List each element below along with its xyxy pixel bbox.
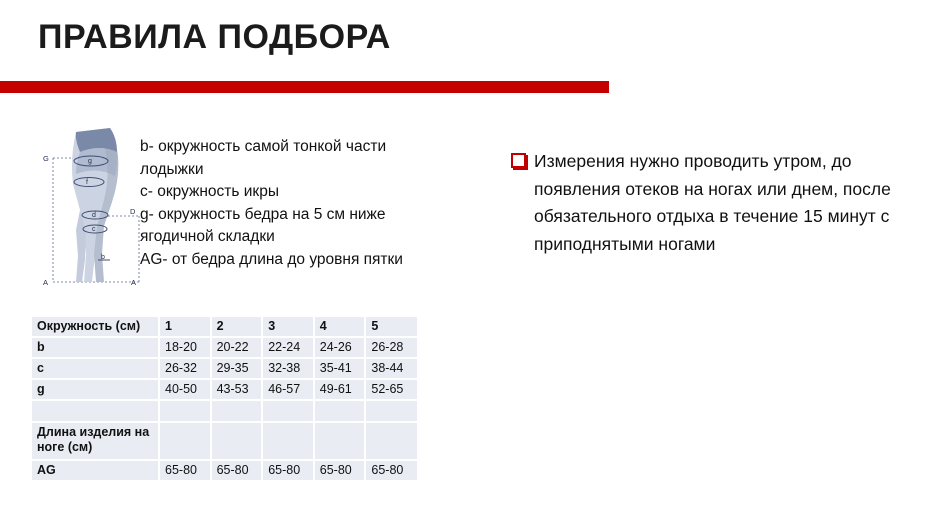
svg-text:D: D	[130, 207, 136, 216]
table-row: g 40-50 43-53 46-57 49-61 52-65	[32, 379, 417, 400]
row-label: b	[32, 337, 159, 358]
cell-value: 20-22	[211, 337, 263, 358]
cell-value	[159, 422, 211, 460]
svg-text:g: g	[88, 158, 92, 165]
cell-value: 65-80	[262, 460, 314, 480]
page-title: ПРАВИЛА ПОДБОРА	[38, 18, 391, 57]
table-header-size-2: 2	[211, 317, 263, 337]
leg-measurement-diagram: g f d c b G D A A	[40, 114, 146, 304]
cell-value	[211, 422, 263, 460]
svg-text:b: b	[101, 254, 105, 261]
row-label: g	[32, 379, 159, 400]
size-chart-table: Окружность (см) 1 2 3 4 5 b 18-20 20-22 …	[32, 317, 417, 480]
table-row: AG 65-80 65-80 65-80 65-80 65-80	[32, 460, 417, 480]
svg-text:A: A	[131, 278, 136, 287]
table-header-size-1: 1	[159, 317, 211, 337]
cell-value: 22-24	[262, 337, 314, 358]
cell-value: 46-57	[262, 379, 314, 400]
cell-value: 43-53	[211, 379, 263, 400]
cell-value	[314, 400, 366, 422]
measurement-note: Измерения нужно проводить утром, до появ…	[508, 148, 908, 258]
cell-value: 32-38	[262, 358, 314, 379]
cell-value	[314, 422, 366, 460]
cell-value: 65-80	[314, 460, 366, 480]
cell-value	[262, 400, 314, 422]
table-header-label: Окружность (см)	[32, 317, 159, 337]
cell-value: 29-35	[211, 358, 263, 379]
cell-value: 26-32	[159, 358, 211, 379]
measurement-legend: b- окружность самой тонкой части лодыжки…	[140, 136, 440, 271]
row-label: AG	[32, 460, 159, 480]
cell-value: 49-61	[314, 379, 366, 400]
cell-value: 18-20	[159, 337, 211, 358]
cell-value	[365, 400, 417, 422]
svg-text:d: d	[92, 212, 96, 219]
legend-line-c: c- окружность икры	[140, 181, 440, 204]
svg-text:G: G	[43, 154, 49, 163]
legend-line-g: g- окружность бедра на 5 см ниже ягодичн…	[140, 204, 440, 249]
cell-value: 65-80	[159, 460, 211, 480]
table-row: c 26-32 29-35 32-38 35-41 38-44	[32, 358, 417, 379]
cell-value	[365, 422, 417, 460]
table-row: b 18-20 20-22 22-24 24-26 26-28	[32, 337, 417, 358]
measurement-note-text: Измерения нужно проводить утром, до появ…	[534, 148, 908, 258]
title-accent-rule	[0, 81, 609, 93]
svg-text:A: A	[43, 278, 48, 287]
table-header-size-3: 3	[262, 317, 314, 337]
table-spacer-row	[32, 400, 417, 422]
cell-value	[262, 422, 314, 460]
cell-value: 35-41	[314, 358, 366, 379]
svg-text:f: f	[86, 179, 88, 186]
red-square-bullet-icon	[511, 153, 526, 168]
leg-illustration	[72, 128, 118, 282]
table-header-size-4: 4	[314, 317, 366, 337]
cell-value	[159, 400, 211, 422]
cell-value	[211, 400, 263, 422]
table-header-row: Окружность (см) 1 2 3 4 5	[32, 317, 417, 337]
cell-value: 40-50	[159, 379, 211, 400]
row-label: Длина изделия на ноге (см)	[32, 422, 159, 460]
cell-value: 65-80	[211, 460, 263, 480]
cell-value: 38-44	[365, 358, 417, 379]
svg-text:c: c	[92, 226, 96, 233]
row-label: c	[32, 358, 159, 379]
cell-value: 26-28	[365, 337, 417, 358]
cell-value: 52-65	[365, 379, 417, 400]
cell-value: 24-26	[314, 337, 366, 358]
legend-line-b: b- окружность самой тонкой части лодыжки	[140, 136, 440, 181]
cell-value: 65-80	[365, 460, 417, 480]
row-label	[32, 400, 159, 422]
table-row: Длина изделия на ноге (см)	[32, 422, 417, 460]
legend-line-ag: AG- от бедра длина до уровня пятки	[140, 249, 440, 272]
table-header-size-5: 5	[365, 317, 417, 337]
